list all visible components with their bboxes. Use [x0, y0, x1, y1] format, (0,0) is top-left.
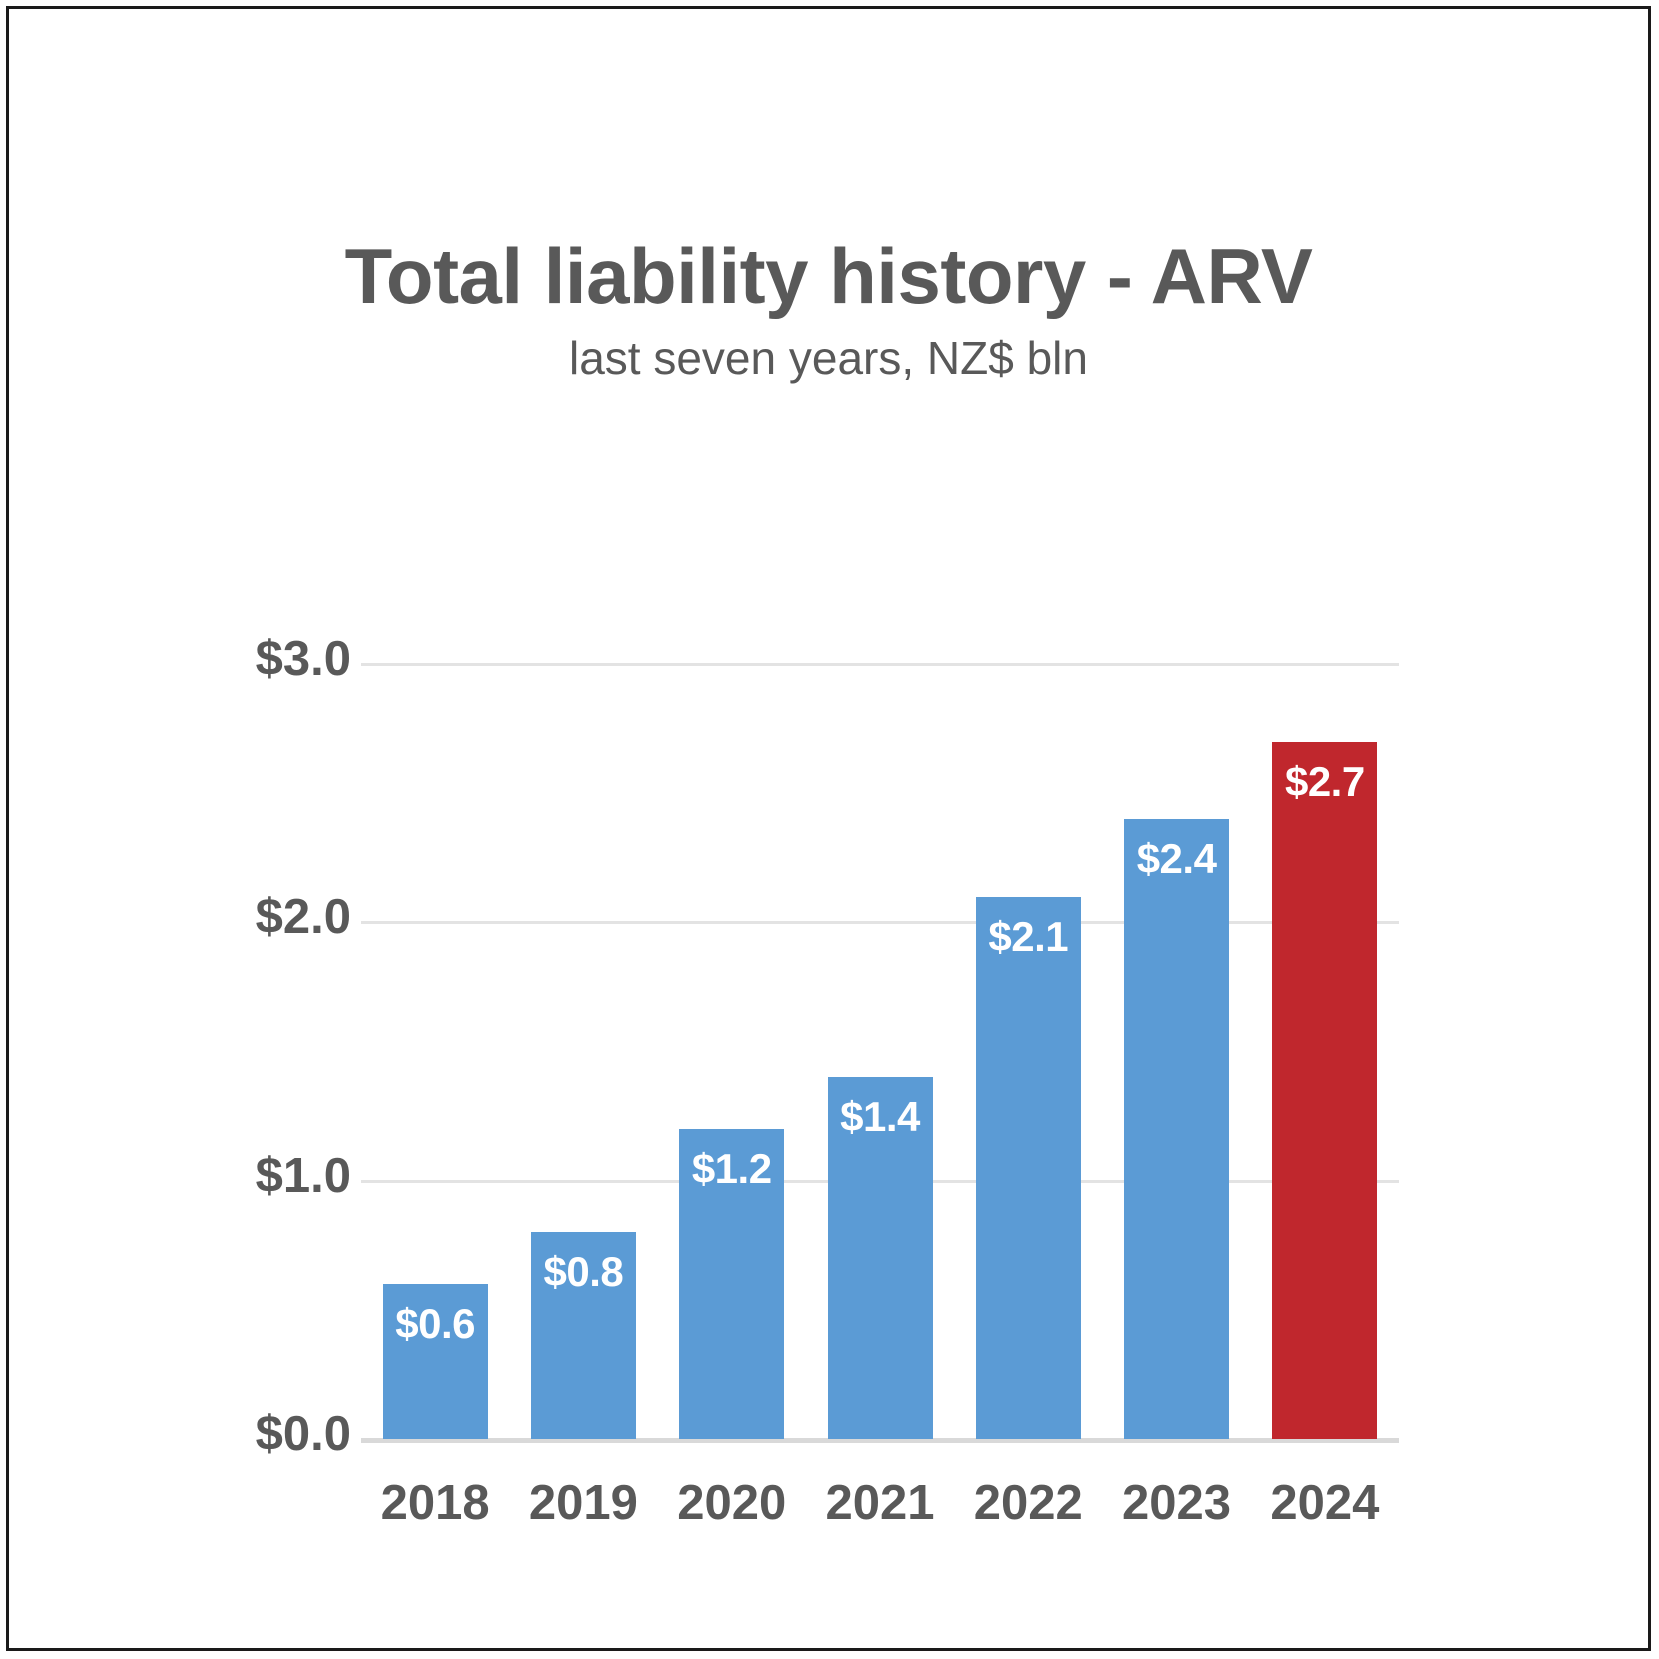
y-axis-tick-label: $2.0 [51, 889, 351, 945]
gridline [361, 921, 1399, 924]
gridline [361, 663, 1399, 666]
chart-frame: Total liability history - ARV last seven… [6, 6, 1651, 1651]
bar-value-label: $1.2 [692, 1145, 772, 1193]
y-axis-tick-label: $0.0 [51, 1406, 351, 1462]
bar-2023[interactable]: $2.4 [1124, 819, 1229, 1439]
bar-value-label: $2.4 [1137, 835, 1217, 883]
y-axis-tick-label: $3.0 [51, 631, 351, 687]
bar-value-label: $2.1 [988, 913, 1068, 961]
bar-value-label: $0.6 [395, 1300, 475, 1348]
bar-2024[interactable]: $2.7 [1272, 742, 1377, 1440]
chart-subtitle: last seven years, NZ$ bln [9, 331, 1648, 385]
bar-value-label: $0.8 [544, 1248, 624, 1296]
y-axis-tick-label: $1.0 [51, 1148, 351, 1204]
bar-value-label: $2.7 [1285, 758, 1365, 806]
bar-2018[interactable]: $0.6 [383, 1284, 488, 1439]
bar-value-label: $1.4 [840, 1093, 920, 1141]
bar-2020[interactable]: $1.2 [679, 1129, 784, 1439]
bar-2021[interactable]: $1.4 [828, 1077, 933, 1439]
chart-canvas: Total liability history - ARV last seven… [9, 9, 1648, 1648]
bar-2019[interactable]: $0.8 [531, 1232, 636, 1439]
bar-2022[interactable]: $2.1 [976, 897, 1081, 1440]
plot-area: $0.6$0.8$1.2$1.4$2.1$2.4$2.7 [361, 664, 1399, 1439]
x-axis-tick-label-2024: 2024 [1235, 1475, 1415, 1531]
chart-title: Total liability history - ARV [9, 231, 1648, 322]
